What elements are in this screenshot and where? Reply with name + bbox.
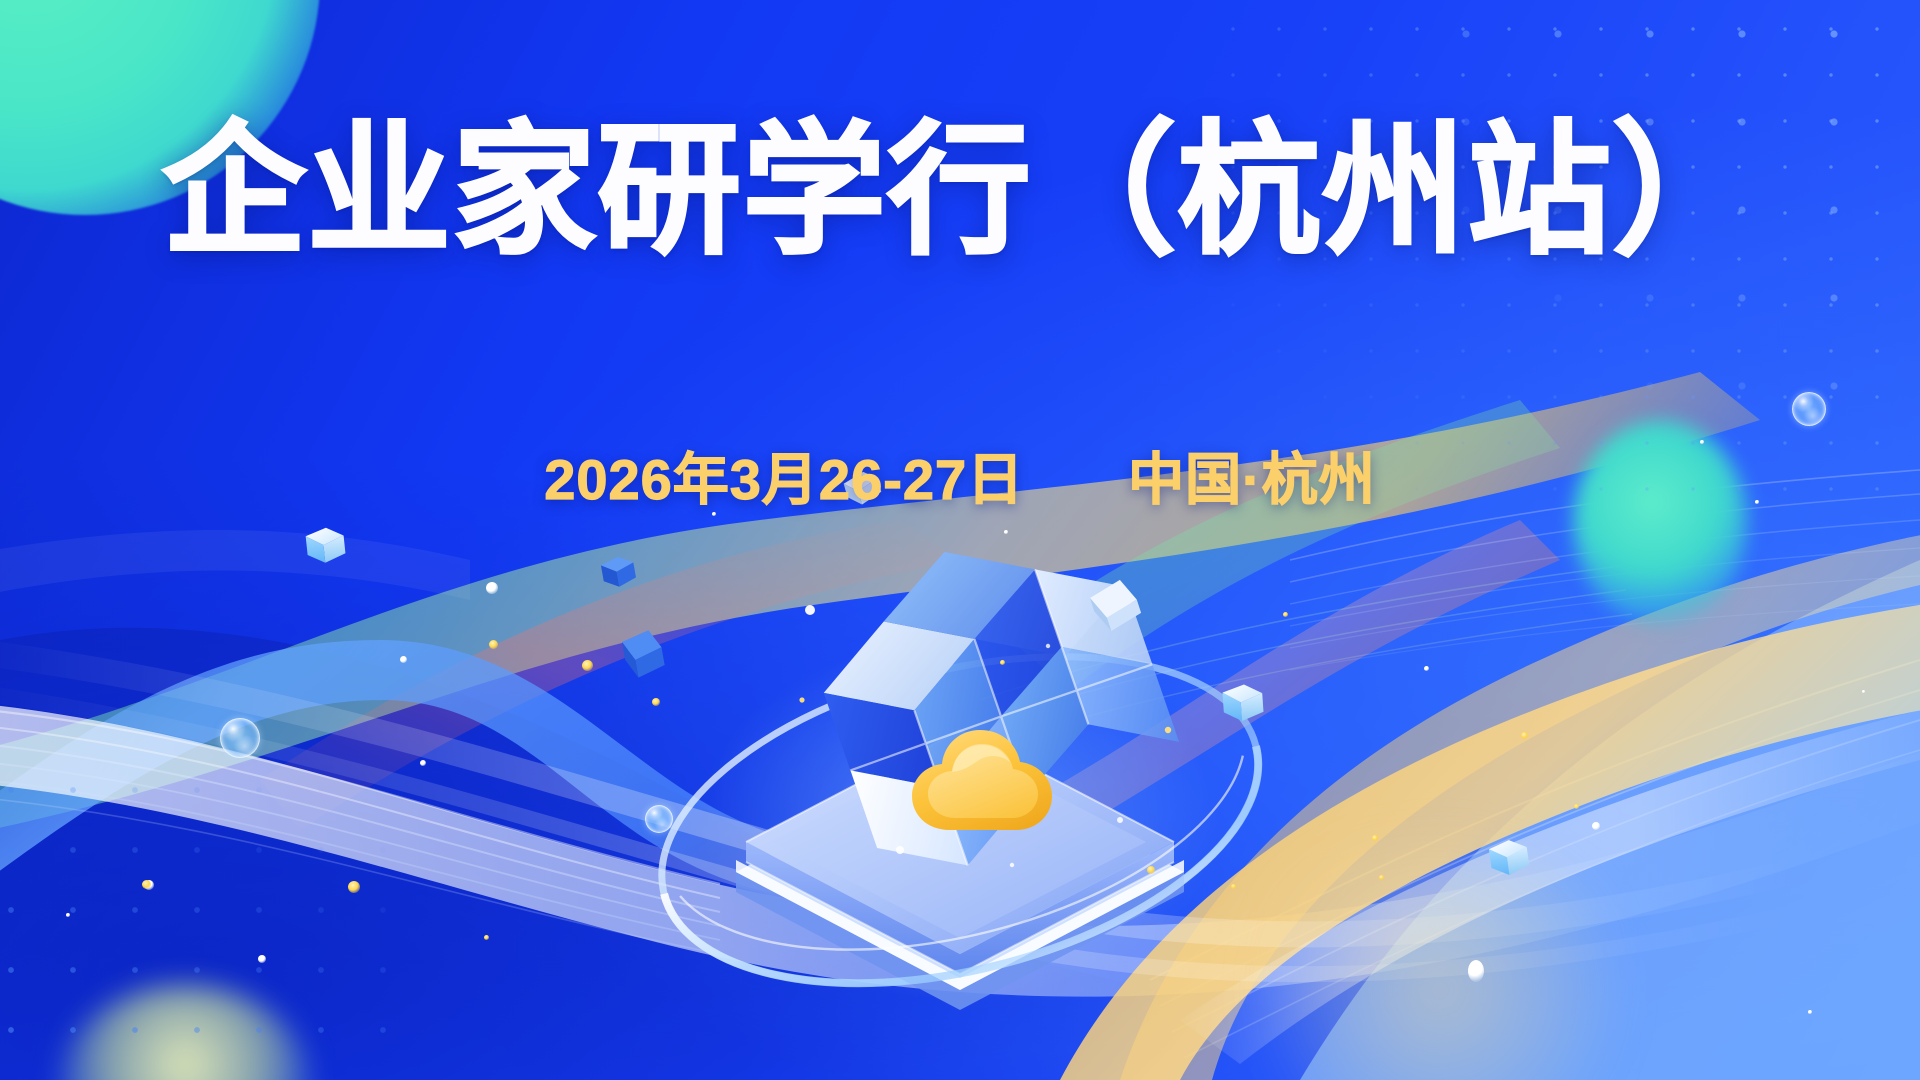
event-banner: 企业家研学行（杭州站） 2026年3月26-27日 中国·杭州 — [0, 0, 1920, 1080]
event-date: 2026年3月26-27日 — [544, 435, 1024, 516]
dot-grid-bottom-left — [0, 760, 440, 1080]
glass-bubble-left — [220, 718, 260, 758]
glass-bubble-right — [1792, 392, 1826, 426]
event-location: 中国·杭州 — [1128, 435, 1376, 516]
ice-cube-left — [621, 629, 666, 680]
event-meta-row: 2026年3月26-27日 中国·杭州 — [544, 435, 1376, 516]
hero-illustration — [560, 520, 1360, 1040]
ice-cube-a — [305, 526, 346, 564]
glass-bubble-center — [645, 805, 673, 833]
page-title: 企业家研学行（杭州站） — [163, 120, 1758, 263]
